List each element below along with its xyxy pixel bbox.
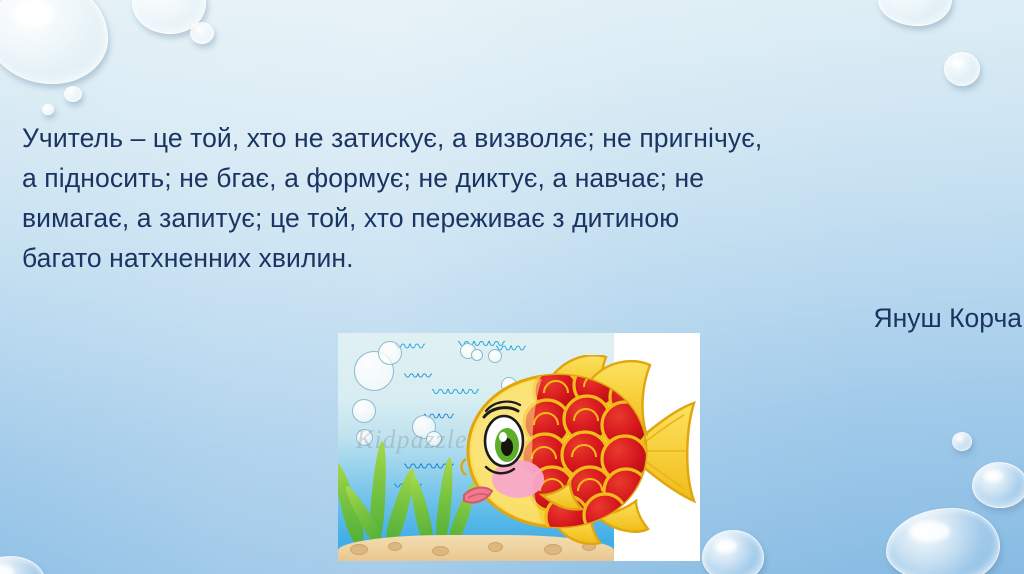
quote-attribution: Януш Корча bbox=[22, 298, 1022, 338]
water-droplet-icon bbox=[190, 22, 214, 44]
pebble-icon bbox=[544, 544, 562, 555]
water-droplet-icon bbox=[64, 86, 82, 102]
bubble-icon bbox=[378, 341, 402, 365]
water-droplet-icon bbox=[944, 52, 980, 86]
bubble-icon bbox=[352, 399, 376, 423]
fish-nose bbox=[462, 459, 467, 475]
water-droplet-icon bbox=[878, 0, 952, 26]
quote-line: вимагає, а запитує; це той, хто пережива… bbox=[22, 198, 1024, 238]
quote-line: Учитель – це той, хто не затискує, а виз… bbox=[22, 118, 1024, 158]
pebble-icon bbox=[388, 542, 402, 551]
water-droplet-icon bbox=[42, 104, 54, 115]
water-droplet-icon bbox=[702, 530, 764, 574]
quote-text-block: Учитель – це той, хто не затискує, а виз… bbox=[22, 118, 1024, 278]
wave-icon: 〰〰 bbox=[404, 369, 430, 384]
slide-canvas: Учитель – це той, хто не затискує, а виз… bbox=[0, 0, 1024, 574]
quote-line: а підносить; не бгає, а формує; не дикту… bbox=[22, 158, 1024, 198]
water-droplet-icon bbox=[0, 0, 108, 84]
water-droplet-icon bbox=[972, 462, 1024, 508]
water-droplet-icon bbox=[952, 432, 972, 451]
fish-drawing bbox=[450, 355, 700, 545]
water-droplet-icon bbox=[0, 556, 46, 574]
water-droplet-icon bbox=[886, 508, 1000, 574]
fish-illustration: 〰〰 〰〰〰 〰〰 〰〰〰 〰〰 〰〰 〰〰〰 〰〰 bbox=[338, 333, 700, 561]
pebble-icon bbox=[350, 544, 368, 555]
pebble-icon bbox=[432, 546, 449, 556]
quote-line: багато натхненних хвилин. bbox=[22, 238, 1024, 278]
